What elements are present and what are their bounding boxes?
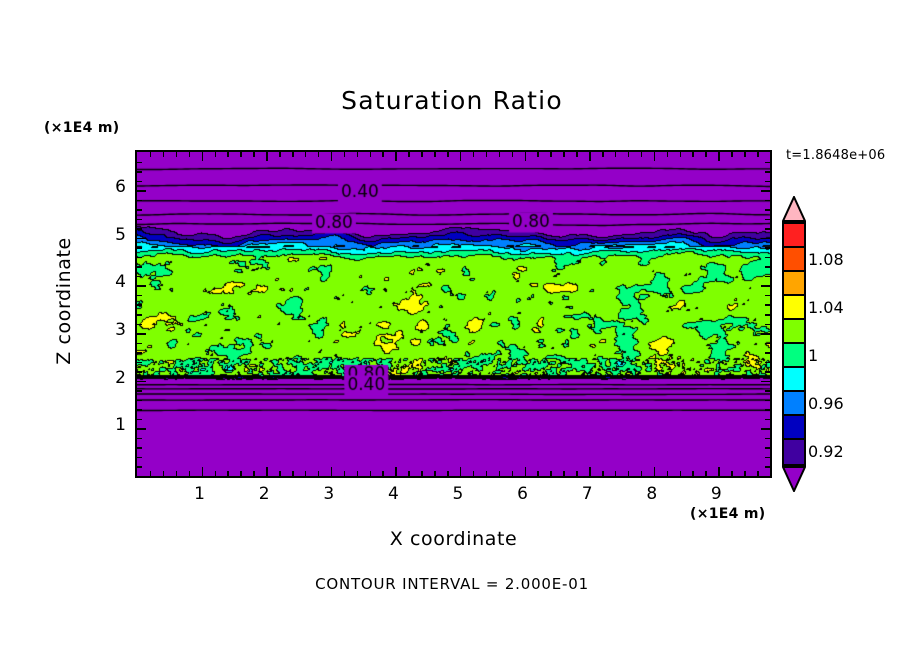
axis-tick [499, 152, 501, 157]
axis-tick [765, 390, 770, 392]
axis-tick [447, 471, 449, 476]
axis-tick [137, 343, 142, 345]
axis-tick [137, 200, 142, 202]
axis-tick [137, 228, 142, 230]
axis-tick [137, 362, 142, 364]
axis-tick [318, 152, 320, 157]
axis-tick [486, 471, 488, 476]
axis-tick [512, 152, 514, 157]
axis-tick [705, 152, 707, 157]
axis-tick [765, 162, 770, 164]
axis-tick [460, 152, 462, 161]
axis-tick [692, 152, 694, 157]
axis-tick [137, 181, 142, 183]
time-annotation: t=1.8648e+06 [786, 148, 885, 163]
axis-tick [765, 400, 770, 402]
colorbar-band [784, 368, 804, 392]
x-tick-label: 7 [575, 484, 599, 504]
colorbar-band [784, 344, 804, 368]
axis-tick [395, 152, 397, 161]
axis-tick [344, 471, 346, 476]
colorbar-band [784, 296, 804, 320]
axis-tick [292, 471, 294, 476]
axis-tick [473, 152, 475, 157]
colorbar-band [784, 248, 804, 272]
axis-tick [667, 152, 669, 157]
axis-tick [628, 471, 630, 476]
colorbar-label: 1.08 [808, 250, 844, 269]
axis-tick [654, 152, 656, 161]
axis-tick [408, 152, 410, 157]
axis-tick [473, 471, 475, 476]
x-axis-tick-labels: 123456789 [135, 484, 772, 508]
axis-tick [253, 152, 255, 157]
axis-tick [680, 152, 682, 157]
axis-tick [761, 381, 770, 383]
axis-tick [765, 171, 770, 173]
axis-tick [486, 152, 488, 157]
x-tick-label: 2 [252, 484, 276, 504]
axis-tick [641, 471, 643, 476]
axis-tick [765, 295, 770, 297]
axis-tick [434, 152, 436, 157]
axis-tick [765, 457, 770, 459]
axis-tick [318, 471, 320, 476]
axis-tick [765, 266, 770, 268]
colorbar-band [784, 392, 804, 416]
axis-tick [765, 438, 770, 440]
axis-tick [150, 471, 152, 476]
axis-tick [189, 152, 191, 157]
axis-tick [382, 152, 384, 157]
axis-tick [744, 471, 746, 476]
axis-tick [525, 467, 527, 476]
axis-tick [137, 352, 142, 354]
axis-tick [137, 390, 142, 392]
axis-tick [765, 371, 770, 373]
colorbar-cap-bottom [782, 466, 806, 492]
chart-title: Saturation Ratio [0, 86, 904, 115]
axis-tick [765, 200, 770, 202]
axis-tick [137, 314, 142, 316]
axis-tick [765, 352, 770, 354]
axis-tick [137, 266, 142, 268]
axis-tick [137, 219, 142, 221]
y-axis-label: Z coordinate [53, 231, 75, 371]
axis-tick [176, 152, 178, 157]
axis-tick [137, 447, 142, 449]
axis-tick [382, 471, 384, 476]
axis-tick [137, 333, 146, 335]
axis-tick [765, 209, 770, 211]
axis-tick [137, 457, 142, 459]
axis-tick [537, 152, 539, 157]
axis-tick [150, 152, 152, 157]
y-tick-label: 5 [100, 225, 126, 245]
axis-tick [137, 419, 142, 421]
axis-tick [731, 152, 733, 157]
axis-tick [227, 152, 229, 157]
axis-tick [215, 471, 217, 476]
axis-tick [137, 190, 146, 192]
axis-tick [705, 471, 707, 476]
axis-tick [137, 247, 142, 249]
axis-tick [765, 228, 770, 230]
axis-tick [761, 285, 770, 287]
x-tick-label: 1 [188, 484, 212, 504]
axis-tick [765, 447, 770, 449]
axis-tick [765, 247, 770, 249]
saturation-field-canvas [137, 152, 770, 476]
y-tick-label: 4 [100, 272, 126, 292]
axis-tick [576, 152, 578, 157]
axis-tick [137, 257, 142, 259]
axis-tick [137, 324, 142, 326]
axis-tick [525, 152, 527, 161]
axis-tick [692, 471, 694, 476]
colorbar [782, 222, 806, 466]
axis-tick [344, 152, 346, 157]
contour-interval-caption: CONTOUR INTERVAL = 2.000E-01 [0, 575, 904, 593]
axis-tick [589, 152, 591, 161]
axis-tick [202, 152, 204, 161]
axis-tick [305, 152, 307, 157]
colorbar-label: 0.96 [808, 394, 844, 413]
x-tick-label: 9 [704, 484, 728, 504]
axis-tick [292, 152, 294, 157]
axis-tick [253, 471, 255, 476]
axis-tick [357, 471, 359, 476]
axis-tick [395, 467, 397, 476]
axis-tick [563, 471, 565, 476]
axis-tick [718, 467, 720, 476]
axis-tick [615, 152, 617, 157]
axis-tick [137, 381, 146, 383]
x-tick-label: 3 [317, 484, 341, 504]
colorbar-band [784, 440, 804, 464]
axis-tick [137, 466, 142, 468]
axis-tick [628, 152, 630, 157]
axis-tick [765, 466, 770, 468]
axis-tick [602, 152, 604, 157]
colorbar-band [784, 320, 804, 344]
axis-tick [202, 467, 204, 476]
axis-tick [765, 304, 770, 306]
y-tick-label: 2 [100, 368, 126, 388]
axis-tick [357, 152, 359, 157]
axis-tick [460, 467, 462, 476]
axis-tick [761, 428, 770, 430]
axis-tick [163, 152, 165, 157]
axis-tick [765, 276, 770, 278]
axis-tick [137, 209, 142, 211]
axis-tick [512, 471, 514, 476]
axis-tick [240, 471, 242, 476]
axis-tick [602, 471, 604, 476]
axis-tick [421, 152, 423, 157]
colorbar-label: 1 [808, 346, 818, 365]
axis-tick [765, 219, 770, 221]
axis-tick [370, 471, 372, 476]
axis-tick [137, 438, 142, 440]
x-axis-label: X coordinate [135, 528, 772, 550]
axis-tick [137, 304, 142, 306]
x-tick-label: 5 [446, 484, 470, 504]
y-tick-label: 1 [100, 415, 126, 435]
colorbar-label: 1.04 [808, 298, 844, 317]
axis-tick [765, 419, 770, 421]
axis-tick [227, 471, 229, 476]
axis-tick [765, 343, 770, 345]
axis-tick [718, 152, 720, 161]
y-axis-tick-labels: 123456 [96, 150, 126, 478]
axis-tick [137, 371, 142, 373]
axis-tick [667, 471, 669, 476]
axis-tick [765, 181, 770, 183]
axis-tick [615, 471, 617, 476]
axis-tick [563, 152, 565, 157]
axis-tick [537, 471, 539, 476]
axis-tick [137, 238, 146, 240]
axis-tick [305, 471, 307, 476]
axis-tick [731, 471, 733, 476]
colorbar-label: 0.92 [808, 442, 844, 461]
y-tick-label: 6 [100, 177, 126, 197]
axis-tick [499, 471, 501, 476]
axis-tick [761, 238, 770, 240]
colorbar-band [784, 416, 804, 440]
contour-plot-area [135, 150, 772, 478]
x-tick-label: 4 [381, 484, 405, 504]
axis-tick [137, 295, 142, 297]
axis-tick [680, 471, 682, 476]
axis-tick [408, 471, 410, 476]
axis-tick [137, 285, 146, 287]
axis-tick [765, 362, 770, 364]
colorbar-band [784, 224, 804, 248]
axis-tick [757, 471, 759, 476]
axis-tick [266, 152, 268, 161]
axis-tick [589, 467, 591, 476]
axis-tick [370, 152, 372, 157]
axis-tick [434, 471, 436, 476]
axis-tick [137, 162, 142, 164]
axis-tick [654, 467, 656, 476]
axis-tick [163, 471, 165, 476]
axis-tick [137, 409, 142, 411]
axis-tick [761, 333, 770, 335]
axis-tick [744, 152, 746, 157]
axis-tick [447, 152, 449, 157]
colorbar-bands [782, 222, 806, 466]
axis-tick [421, 471, 423, 476]
y-tick-label: 3 [100, 320, 126, 340]
axis-tick [761, 190, 770, 192]
axis-tick [757, 152, 759, 157]
axis-tick [215, 152, 217, 157]
axis-tick [279, 152, 281, 157]
axis-tick [137, 428, 146, 430]
x-tick-label: 6 [511, 484, 535, 504]
axis-tick [765, 314, 770, 316]
x-tick-label: 8 [640, 484, 664, 504]
axis-tick [765, 409, 770, 411]
axis-tick [176, 471, 178, 476]
axis-tick [137, 171, 142, 173]
axis-tick [641, 152, 643, 157]
axis-tick [550, 152, 552, 157]
axis-tick [189, 471, 191, 476]
axis-tick [137, 276, 142, 278]
axis-tick [576, 471, 578, 476]
axis-tick [331, 152, 333, 161]
colorbar-band [784, 272, 804, 296]
axis-tick [331, 467, 333, 476]
axis-tick [279, 471, 281, 476]
axis-tick [550, 471, 552, 476]
colorbar-cap-top [782, 196, 806, 222]
axis-tick [266, 467, 268, 476]
axis-tick [240, 152, 242, 157]
axis-tick [137, 400, 142, 402]
axis-tick [765, 257, 770, 259]
axis-tick [765, 324, 770, 326]
x-axis-unit: (×1E4 m) [690, 506, 765, 522]
y-axis-unit: (×1E4 m) [44, 120, 119, 136]
